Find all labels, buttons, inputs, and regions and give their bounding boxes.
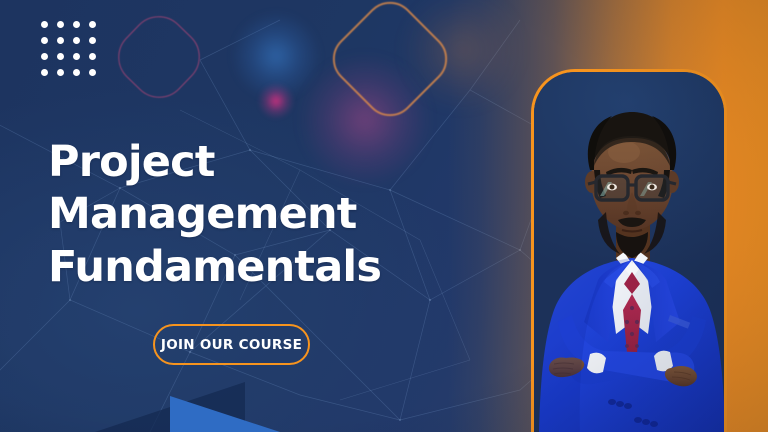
logo-dot [41,53,48,60]
instructor-portrait-frame [531,69,727,432]
instructor-figure [531,72,727,432]
logo-dot [73,37,80,44]
logo-dot [89,69,96,76]
logo-dot [41,37,48,44]
logo-dot [41,21,48,28]
logo-dot [89,53,96,60]
dot-grid-logo[interactable] [41,21,96,76]
logo-dot [57,69,64,76]
logo-dot [57,53,64,60]
logo-dot [57,37,64,44]
join-our-course-button[interactable]: JOIN OUR COURSE [153,324,310,365]
logo-dot [57,21,64,28]
headline-block: Project Management Fundamentals [48,136,518,293]
logo-dot [41,69,48,76]
course-promo-banner: Project Management Fundamentals JOIN OUR… [0,0,768,432]
logo-dot [73,53,80,60]
logo-dot [89,37,96,44]
page-title: Project Management Fundamentals [48,136,518,293]
logo-dot [73,69,80,76]
logo-dot [73,21,80,28]
logo-dot [89,21,96,28]
